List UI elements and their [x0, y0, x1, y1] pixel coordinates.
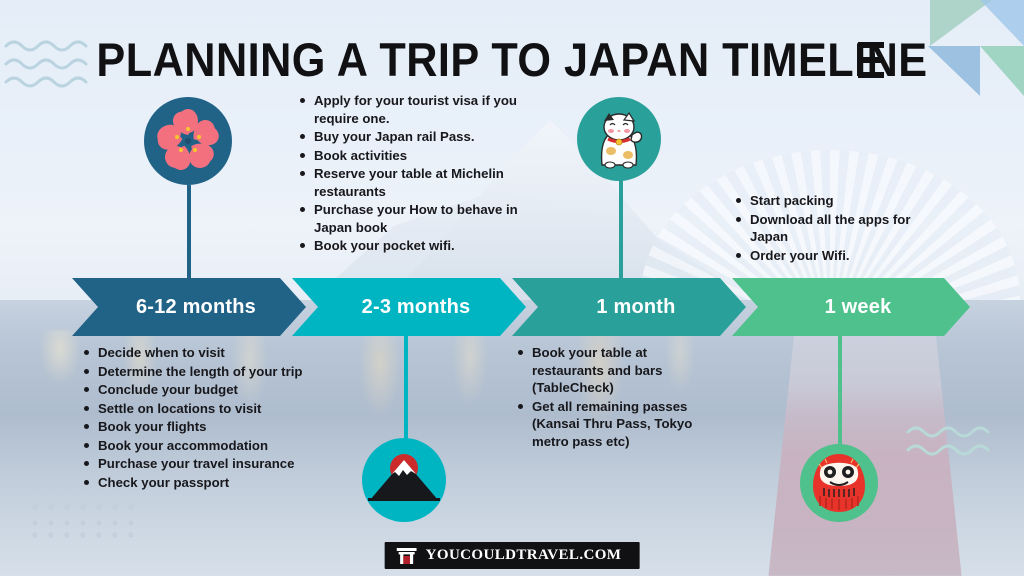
timeline-stage-6-12-months[interactable]: 6-12 months	[72, 278, 306, 336]
timeline-stage-label: 1 week	[811, 296, 892, 319]
connector-stem-sakura	[187, 185, 191, 281]
torii-gate-icon	[397, 547, 417, 564]
list-item: Book activities	[300, 147, 532, 165]
task-list-2-3-months: Apply for your tourist visa if you requi…	[300, 92, 532, 256]
site-wordmark: YOUCOULDTRAVEL.COM	[426, 547, 622, 564]
list-item: Determine the length of your trip	[84, 363, 334, 381]
list-item: Book your accommodation	[84, 437, 334, 455]
list-item: Conclude your budget	[84, 381, 334, 399]
connector-stem-fuji	[404, 332, 408, 440]
node-circle-sakura	[144, 97, 232, 185]
dot-grid-decoration	[30, 486, 150, 538]
list-item: Purchase your travel insurance	[84, 455, 334, 473]
list-item: Book your pocket wifi.	[300, 237, 532, 255]
page-title: PLANNING A TRIP TO JAPAN TIMELINE	[41, 32, 983, 87]
list-item: Buy your Japan rail Pass.	[300, 128, 532, 146]
list-item: Apply for your tourist visa if you requi…	[300, 92, 532, 127]
timeline-stage-label: 1 month	[582, 296, 675, 319]
mount-fuji-icon	[362, 438, 446, 522]
list-item: Check your passport	[84, 474, 334, 492]
list-item: Get all remaining passes (Kansai Thru Pa…	[518, 398, 714, 451]
infographic-canvas: PLANNING A TRIP TO JAPAN TIMELINE	[0, 0, 1024, 576]
node-circle-daruma	[800, 444, 878, 522]
list-item: Start packing	[736, 192, 936, 210]
connector-stem-luckycat	[619, 180, 623, 280]
list-item: Decide when to visit	[84, 344, 334, 362]
timeline-stage-label: 2-3 months	[348, 296, 471, 319]
timeline-chevron-band: 6-12 months 2-3 months 1 month 1 week	[0, 278, 1024, 336]
timeline-stage-1-week[interactable]: 1 week	[732, 278, 970, 336]
connector-stem-daruma	[838, 332, 842, 446]
site-watermark[interactable]: YOUCOULDTRAVEL.COM	[385, 542, 640, 569]
node-circle-lucky-cat	[577, 97, 661, 181]
list-item: Download all the apps for Japan	[736, 211, 936, 246]
list-item: Book your table at restaurants and bars …	[518, 344, 714, 397]
list-item: Reserve your table at Michelin restauran…	[300, 165, 532, 200]
list-item: Order your Wifi.	[736, 247, 936, 265]
task-list-6-12-months: Decide when to visitDetermine the length…	[84, 344, 334, 492]
list-item: Settle on locations to visit	[84, 400, 334, 418]
task-list-1-month: Book your table at restaurants and bars …	[518, 344, 714, 451]
task-list-1-week: Start packingDownload all the apps for J…	[736, 192, 936, 265]
list-item: Book your flights	[84, 418, 334, 436]
node-circle-mount-fuji	[362, 438, 446, 522]
sakura-flower-icon	[144, 97, 232, 185]
wave-lines-decoration-bottom-right	[906, 422, 1016, 466]
timeline-stage-label: 6-12 months	[122, 296, 256, 319]
maneki-neko-icon	[577, 97, 661, 181]
daruma-doll-icon	[800, 444, 878, 522]
timeline-stage-1-month[interactable]: 1 month	[512, 278, 746, 336]
timeline-stage-2-3-months[interactable]: 2-3 months	[292, 278, 526, 336]
list-item: Purchase your How to behave in Japan boo…	[300, 201, 532, 236]
